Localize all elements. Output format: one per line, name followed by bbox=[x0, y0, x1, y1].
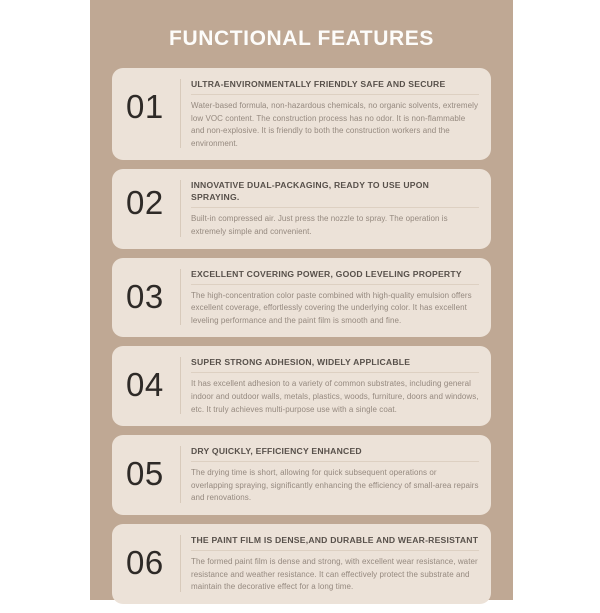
feature-number: 01 bbox=[124, 77, 180, 123]
vertical-divider bbox=[180, 446, 181, 503]
feature-card: 04 SUPER STRONG ADHESION, WIDELY APPLICA… bbox=[112, 346, 491, 426]
feature-card: 03 EXCELLENT COVERING POWER, GOOD LEVELI… bbox=[112, 258, 491, 338]
feature-body: SUPER STRONG ADHESION, WIDELY APPLICABLE… bbox=[191, 355, 479, 416]
feature-number: 05 bbox=[124, 444, 180, 490]
feature-heading: EXCELLENT COVERING POWER, GOOD LEVELING … bbox=[191, 268, 479, 285]
feature-heading: THE PAINT FILM IS DENSE,AND DURABLE AND … bbox=[191, 534, 479, 551]
vertical-divider bbox=[180, 357, 181, 414]
vertical-divider bbox=[180, 535, 181, 592]
feature-description: The drying time is short, allowing for q… bbox=[191, 467, 479, 505]
feature-description: The high-concentration color paste combi… bbox=[191, 290, 479, 328]
feature-number: 06 bbox=[124, 533, 180, 579]
feature-description: It has excellent adhesion to a variety o… bbox=[191, 378, 479, 416]
feature-heading: DRY QUICKLY, EFFICIENCY ENHANCED bbox=[191, 445, 479, 462]
feature-card: 01 ULTRA-ENVIRONMENTALLY FRIENDLY SAFE A… bbox=[112, 68, 491, 160]
feature-number: 02 bbox=[124, 178, 180, 219]
feature-heading: ULTRA-ENVIRONMENTALLY FRIENDLY SAFE AND … bbox=[191, 78, 479, 95]
feature-body: DRY QUICKLY, EFFICIENCY ENHANCED The dry… bbox=[191, 444, 479, 505]
vertical-divider bbox=[180, 180, 181, 236]
feature-number: 04 bbox=[124, 355, 180, 401]
feature-list: 01 ULTRA-ENVIRONMENTALLY FRIENDLY SAFE A… bbox=[112, 68, 491, 613]
page-title: FUNCTIONAL FEATURES bbox=[90, 26, 513, 52]
feature-card: 06 THE PAINT FILM IS DENSE,AND DURABLE A… bbox=[112, 524, 491, 604]
feature-description: The formed paint film is dense and stron… bbox=[191, 556, 479, 594]
feature-description: Built-in compressed air. Just press the … bbox=[191, 213, 479, 238]
vertical-divider bbox=[180, 269, 181, 326]
feature-heading: SUPER STRONG ADHESION, WIDELY APPLICABLE bbox=[191, 356, 479, 373]
feature-body: THE PAINT FILM IS DENSE,AND DURABLE AND … bbox=[191, 533, 479, 594]
feature-body: EXCELLENT COVERING POWER, GOOD LEVELING … bbox=[191, 267, 479, 328]
feature-description: Water-based formula, non-hazardous chemi… bbox=[191, 100, 479, 150]
feature-card: 05 DRY QUICKLY, EFFICIENCY ENHANCED The … bbox=[112, 435, 491, 515]
feature-card: 02 INNOVATIVE DUAL-PACKAGING, READY TO U… bbox=[112, 169, 491, 248]
feature-body: ULTRA-ENVIRONMENTALLY FRIENDLY SAFE AND … bbox=[191, 77, 479, 150]
poster-root: FUNCTIONAL FEATURES 01 ULTRA-ENVIRONMENT… bbox=[0, 0, 600, 600]
feature-body: INNOVATIVE DUAL-PACKAGING, READY TO USE … bbox=[191, 178, 479, 238]
feature-heading: INNOVATIVE DUAL-PACKAGING, READY TO USE … bbox=[191, 179, 479, 208]
feature-number: 03 bbox=[124, 267, 180, 313]
vertical-divider bbox=[180, 79, 181, 148]
